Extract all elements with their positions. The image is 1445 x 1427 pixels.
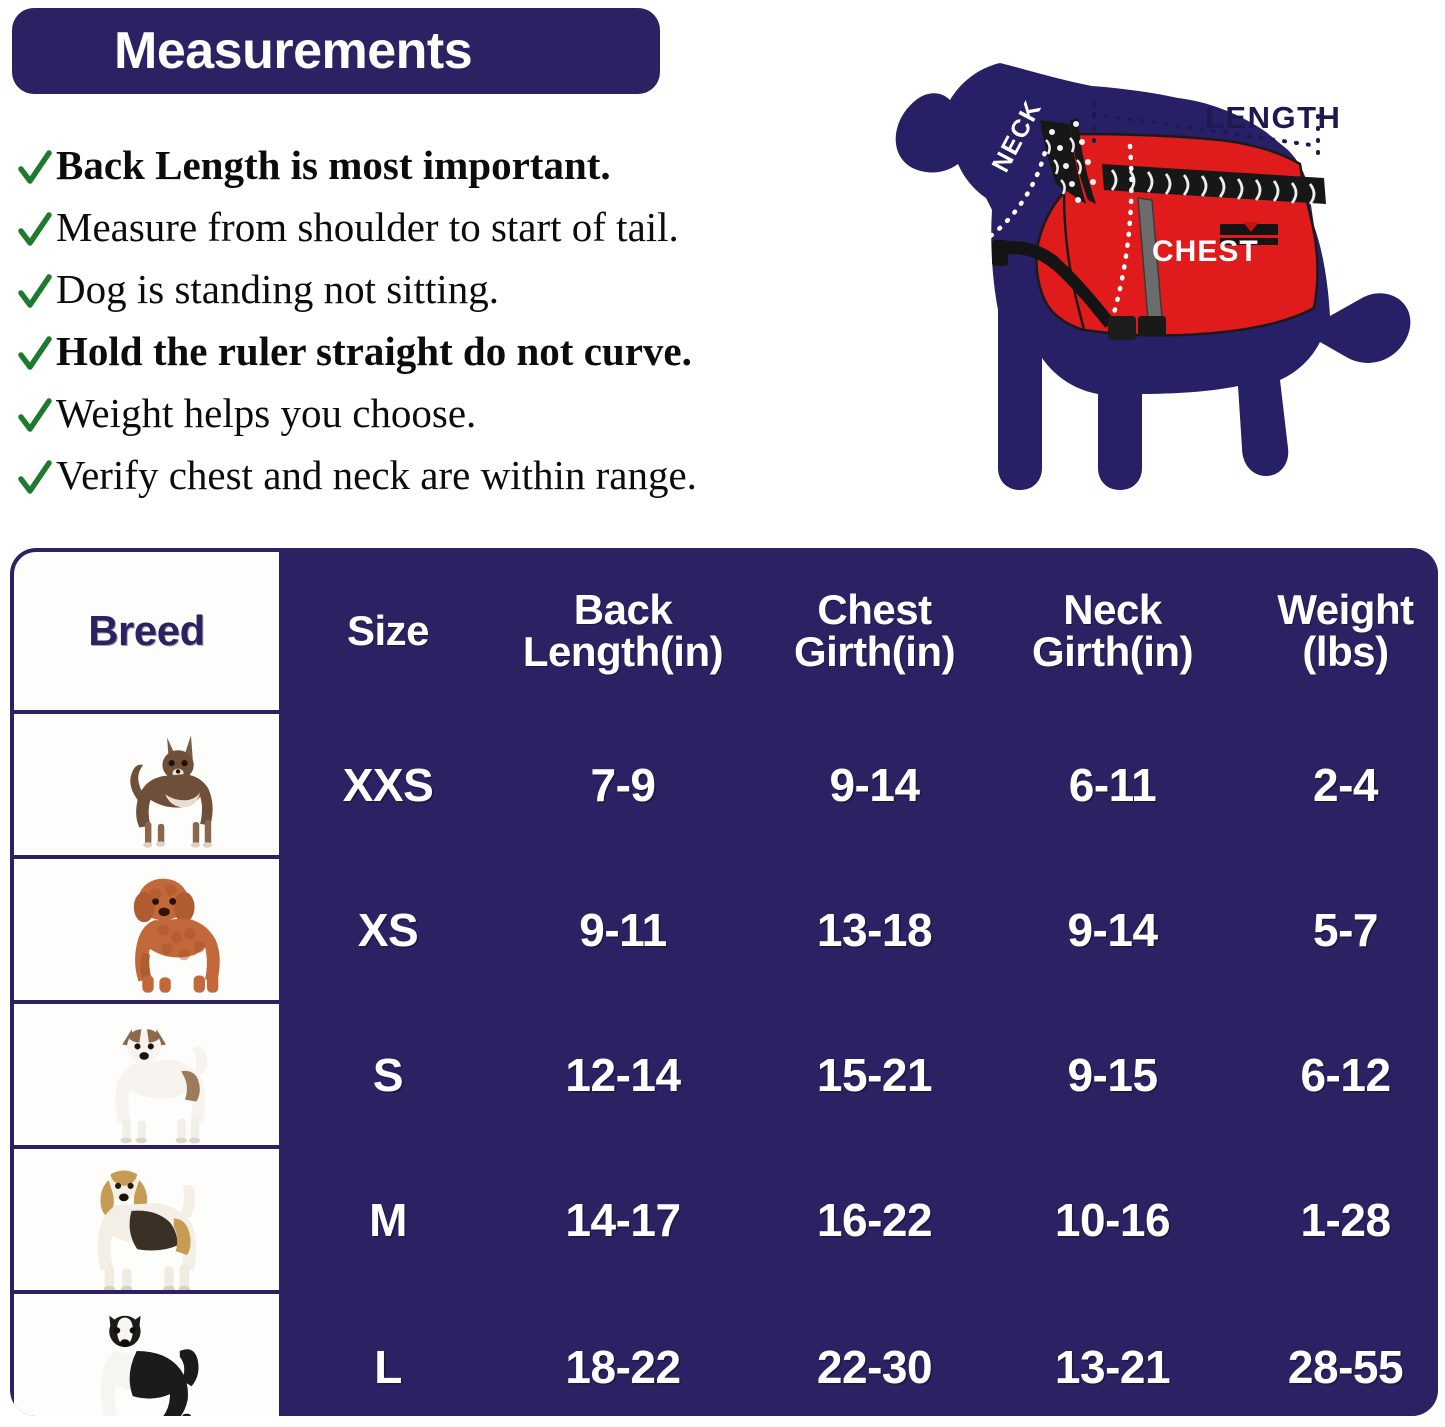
instruction-text: Dog is standing not sitting. [56, 264, 499, 311]
length-label: LENGTH [1205, 100, 1341, 135]
list-item: Hold the ruler straight do not curve. [14, 326, 894, 388]
list-item: Measure from shoulder to start of tail. [14, 202, 894, 264]
cell-chest-girth: 16-22 [753, 1149, 996, 1290]
column-header-back-length: Back Length(in) [497, 552, 749, 710]
cell-weight: 2-4 [1229, 714, 1438, 855]
cell-back-length: 14-17 [497, 1149, 749, 1290]
chest-label: CHEST [1152, 235, 1259, 268]
cell-weight: 5-7 [1229, 859, 1438, 1000]
cell-size: L [283, 1294, 493, 1416]
list-item: Back Length is most important. [14, 140, 894, 202]
cell-weight: 6-12 [1229, 1004, 1438, 1145]
cell-back-length: 9-11 [497, 859, 749, 1000]
page-title-badge: Measurements [12, 8, 660, 94]
instructions-list: Back Length is most important. Measure f… [14, 140, 894, 512]
green-check-icon [14, 450, 56, 498]
cell-size: S [283, 1004, 493, 1145]
table-row-breed-photo [14, 1294, 279, 1416]
list-item: Weight helps you choose. [14, 388, 894, 450]
column-header-neck-girth: Neck Girth(in) [1000, 552, 1225, 710]
cell-back-length: 7-9 [497, 714, 749, 855]
green-check-icon [14, 264, 56, 312]
instruction-text: Verify chest and neck are within range. [56, 450, 697, 497]
cell-weight: 1-28 [1229, 1149, 1438, 1290]
list-item: Dog is standing not sitting. [14, 264, 894, 326]
column-header-chest-girth: Chest Girth(in) [753, 552, 996, 710]
cell-size: M [283, 1149, 493, 1290]
chihuahua-photo [14, 714, 279, 855]
toy-poodle-photo [14, 859, 279, 1000]
beagle-photo [14, 1149, 279, 1290]
cell-neck-girth: 9-15 [1000, 1004, 1225, 1145]
cell-back-length: 12-14 [497, 1004, 749, 1145]
column-header-size: Size [283, 552, 493, 710]
table-row-breed-photo [14, 859, 279, 1000]
cell-chest-girth: 15-21 [753, 1004, 996, 1145]
size-chart-table: Breed Size Back Length(in) Chest Girth(i… [10, 548, 1438, 1416]
list-item: Verify chest and neck are within range. [14, 450, 894, 512]
green-check-icon [14, 388, 56, 436]
table-row-breed-photo [14, 1004, 279, 1145]
instruction-text: Hold the ruler straight do not curve. [56, 326, 692, 373]
column-header-breed: Breed [14, 552, 279, 710]
jack-russell-terrier-photo [14, 1004, 279, 1145]
cell-neck-girth: 10-16 [1000, 1149, 1225, 1290]
cell-neck-girth: 6-11 [1000, 714, 1225, 855]
instruction-text: Weight helps you choose. [56, 388, 476, 435]
cell-size: XS [283, 859, 493, 1000]
cell-chest-girth: 22-30 [753, 1294, 996, 1416]
instruction-text: Back Length is most important. [56, 140, 611, 187]
table-row-breed-photo [14, 714, 279, 855]
cell-weight: 28-55 [1229, 1294, 1438, 1416]
green-check-icon [14, 326, 56, 374]
cell-back-length: 18-22 [497, 1294, 749, 1416]
cell-chest-girth: 9-14 [753, 714, 996, 855]
column-header-weight: Weight (lbs) [1229, 552, 1438, 710]
green-check-icon [14, 140, 56, 188]
instruction-text: Measure from shoulder to start of tail. [56, 202, 679, 249]
dog-wearing-vest-measurement-diagram: LENGTH NECK CHEST [880, 28, 1440, 510]
cell-chest-girth: 13-18 [753, 859, 996, 1000]
page-title: Measurements [12, 21, 472, 81]
border-collie-photo [14, 1294, 279, 1416]
table-row-breed-photo [14, 1149, 279, 1290]
cell-neck-girth: 9-14 [1000, 859, 1225, 1000]
green-check-icon [14, 202, 56, 250]
cell-neck-girth: 13-21 [1000, 1294, 1225, 1416]
cell-size: XXS [283, 714, 493, 855]
